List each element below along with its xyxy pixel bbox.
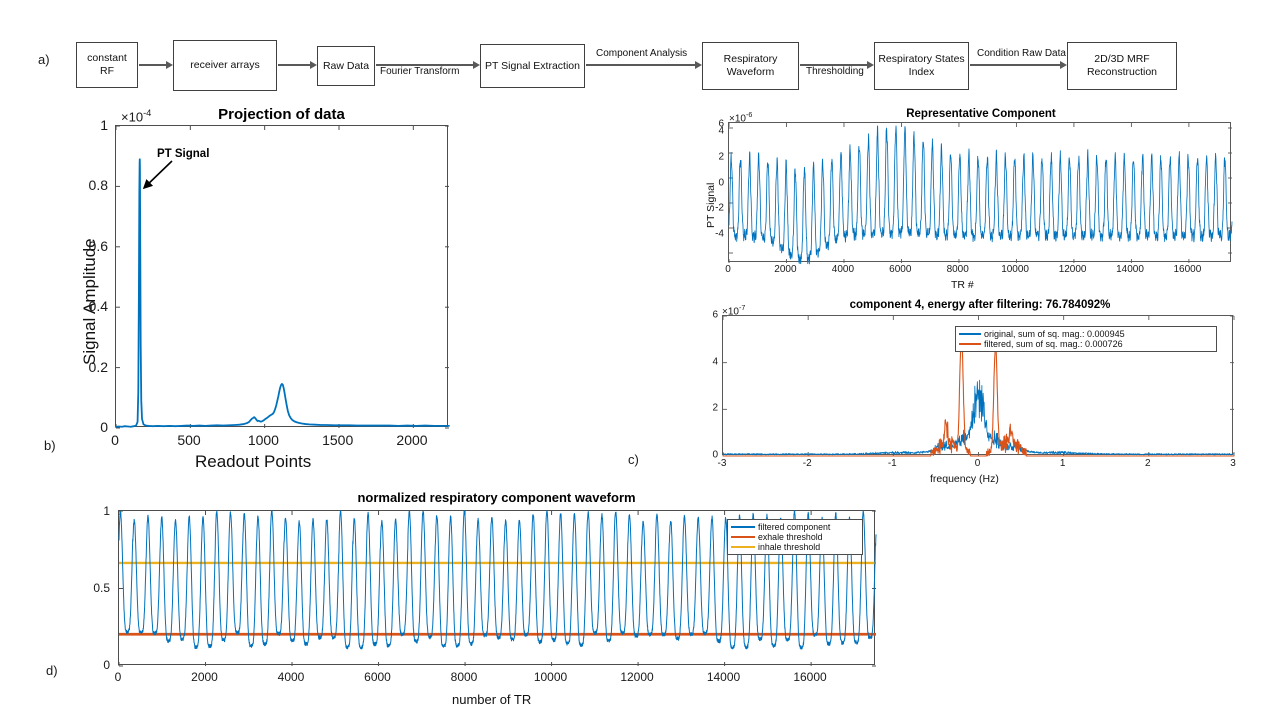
panel-label-b: b) — [44, 438, 56, 453]
respwave-xlabel: number of TR — [452, 692, 531, 707]
spectrum-xtick-3: 0 — [975, 458, 981, 469]
flow-arrow-6 — [970, 60, 1067, 70]
repcomp-xlabel: TR # — [951, 279, 974, 291]
flow-box-mrf-reconstruction-line2: Reconstruction — [1087, 66, 1157, 79]
flow-label-component-analysis: Component Analysis — [596, 48, 687, 59]
projection-ytick-3: 0.6 — [76, 238, 108, 254]
projection-ytick-2: 0.4 — [76, 298, 108, 314]
flow-label-condition-raw-data: Condition Raw Data — [977, 48, 1066, 59]
flow-box-mrf-reconstruction: 2D/3D MRF Reconstruction — [1067, 42, 1177, 90]
flow-box-raw-data: Raw Data — [317, 46, 375, 86]
respwave-xtick-2: 4000 — [278, 670, 305, 684]
repcomp-ytick-2: 0 — [706, 177, 724, 188]
repcomp-xtick-2: 4000 — [832, 264, 854, 275]
flow-arrow-2 — [278, 60, 317, 70]
projection-xlabel: Readout Points — [195, 452, 311, 472]
spectrum-xtick-1: -2 — [803, 458, 812, 469]
flow-box-constant-rf-line2: RF — [87, 65, 127, 78]
repcomp-xtick-6: 12000 — [1059, 264, 1087, 275]
respwave-xtick-5: 10000 — [534, 670, 567, 684]
spectrum-xtick-4: 1 — [1060, 458, 1066, 469]
repcomp-ytick-5: 6 — [706, 118, 724, 129]
spectrum-ytick-0: 0 — [700, 450, 718, 461]
respwave-legend-row-0: filtered component — [731, 522, 859, 532]
respwave-legend-swatch-exhale — [731, 536, 755, 539]
flow-arrow-5 — [800, 60, 874, 70]
respwave-xtick-6: 12000 — [620, 670, 653, 684]
respwave-legend-row-1: exhale threshold — [731, 532, 859, 542]
panel-label-d: d) — [46, 663, 58, 678]
projection-annotation-arrow — [135, 158, 175, 196]
repcomp-xtick-5: 10000 — [1001, 264, 1029, 275]
flow-arrow-1 — [139, 60, 173, 70]
spectrum-ytick-2: 4 — [700, 356, 718, 367]
projection-ytick-1: 0.2 — [76, 359, 108, 375]
spectrum-legend-swatch-filtered — [959, 343, 981, 345]
repcomp-axes — [728, 122, 1231, 262]
projection-ytick-5: 1 — [90, 117, 108, 133]
flow-box-receiver-arrays-line1: receiver arrays — [190, 59, 259, 72]
respwave-title: normalized respiratory component wavefor… — [118, 490, 875, 505]
repcomp-title: Representative Component — [731, 108, 1231, 120]
spectrum-xlabel: frequency (Hz) — [930, 473, 999, 485]
respwave-xtick-0: 0 — [115, 670, 122, 684]
spectrum-legend: original, sum of sq. mag.: 0.000945 filt… — [955, 326, 1217, 352]
spectrum-legend-label-filtered: filtered, sum of sq. mag.: 0.000726 — [984, 339, 1123, 349]
respwave-legend-swatch-filtered — [731, 526, 755, 528]
spectrum-ytick-1: 2 — [700, 403, 718, 414]
projection-xtick-2: 1000 — [248, 432, 279, 448]
spectrum-legend-row-1: filtered, sum of sq. mag.: 0.000726 — [959, 339, 1213, 349]
respwave-xtick-4: 8000 — [451, 670, 478, 684]
projection-xtick-1: 500 — [177, 432, 200, 448]
respwave-xtick-7: 14000 — [707, 670, 740, 684]
repcomp-xtick-4: 8000 — [947, 264, 969, 275]
respwave-ytick-2: 1 — [92, 504, 110, 518]
respwave-ytick-0: 0 — [92, 658, 110, 672]
flow-box-pt-signal-extraction: PT Signal Extraction — [480, 44, 585, 88]
repcomp-xtick-1: 2000 — [774, 264, 796, 275]
respwave-legend-row-2: inhale threshold — [731, 542, 859, 552]
spectrum-xtick-5: 2 — [1145, 458, 1151, 469]
respwave-legend-label-exhale: exhale threshold — [758, 532, 823, 542]
projection-ytick-4: 0.8 — [76, 177, 108, 193]
flow-box-constant-rf-line1: constant — [87, 52, 127, 65]
flow-box-mrf-reconstruction-line1: 2D/3D MRF — [1087, 53, 1157, 66]
spectrum-ytick-3: 6 — [700, 310, 718, 321]
respwave-xtick-3: 6000 — [364, 670, 391, 684]
repcomp-ytick-3: 2 — [706, 151, 724, 162]
repcomp-xtick-7: 14000 — [1116, 264, 1144, 275]
projection-xtick-0: 0 — [111, 432, 119, 448]
panel-label-a: a) — [38, 52, 50, 67]
flow-arrow-3 — [376, 60, 480, 70]
panel-label-c: c) — [628, 452, 639, 467]
respwave-ytick-1: 0.5 — [80, 581, 110, 595]
repcomp-xtick-8: 16000 — [1173, 264, 1201, 275]
flow-box-respiratory-states-index: Respiratory States Index — [874, 42, 969, 90]
respwave-xtick-1: 2000 — [191, 670, 218, 684]
flow-box-raw-data-line1: Raw Data — [323, 60, 369, 73]
flow-box-respiratory-waveform: Respiratory Waveform — [702, 42, 799, 90]
spectrum-xtick-6: 3 — [1230, 458, 1236, 469]
projection-xtick-3: 1500 — [322, 432, 353, 448]
respwave-legend-swatch-inhale — [731, 546, 755, 548]
spectrum-xtick-2: -1 — [888, 458, 897, 469]
spectrum-xtick-0: -3 — [718, 458, 727, 469]
repcomp-xtick-3: 6000 — [889, 264, 911, 275]
repcomp-ytick-0: -4 — [706, 229, 724, 240]
spectrum-legend-swatch-original — [959, 333, 981, 335]
flow-box-respiratory-waveform-line1: Respiratory — [724, 53, 778, 66]
spectrum-legend-row-0: original, sum of sq. mag.: 0.000945 — [959, 329, 1213, 339]
flow-arrow-4 — [586, 60, 702, 70]
flow-box-constant-rf: constant RF — [76, 42, 138, 88]
flow-box-respiratory-waveform-line2: Waveform — [724, 66, 778, 79]
repcomp-ytick-1: -2 — [706, 203, 724, 214]
spectrum-legend-label-original: original, sum of sq. mag.: 0.000945 — [984, 329, 1125, 339]
figure-canvas: a) constant RF receiver arrays Raw Data … — [0, 0, 1280, 720]
flow-box-receiver-arrays: receiver arrays — [173, 40, 277, 91]
flow-box-pt-signal-extraction-line1: PT Signal Extraction — [485, 60, 580, 73]
flow-box-respiratory-states-index-line2: Index — [878, 66, 964, 79]
respwave-xtick-8: 16000 — [793, 670, 826, 684]
projection-xtick-4: 2000 — [396, 432, 427, 448]
spectrum-title: component 4, energy after filtering: 76.… — [720, 299, 1240, 311]
projection-y-exponent: ×10-4 — [121, 108, 151, 124]
projection-title: Projection of data — [115, 106, 448, 123]
respwave-legend: filtered component exhale threshold inha… — [727, 519, 863, 555]
respwave-legend-label-inhale: inhale threshold — [758, 542, 820, 552]
flow-box-respiratory-states-index-line1: Respiratory States — [878, 53, 964, 66]
respwave-legend-label-filtered: filtered component — [758, 522, 830, 532]
repcomp-xtick-0: 0 — [725, 264, 731, 275]
projection-ytick-0: 0 — [90, 419, 108, 435]
